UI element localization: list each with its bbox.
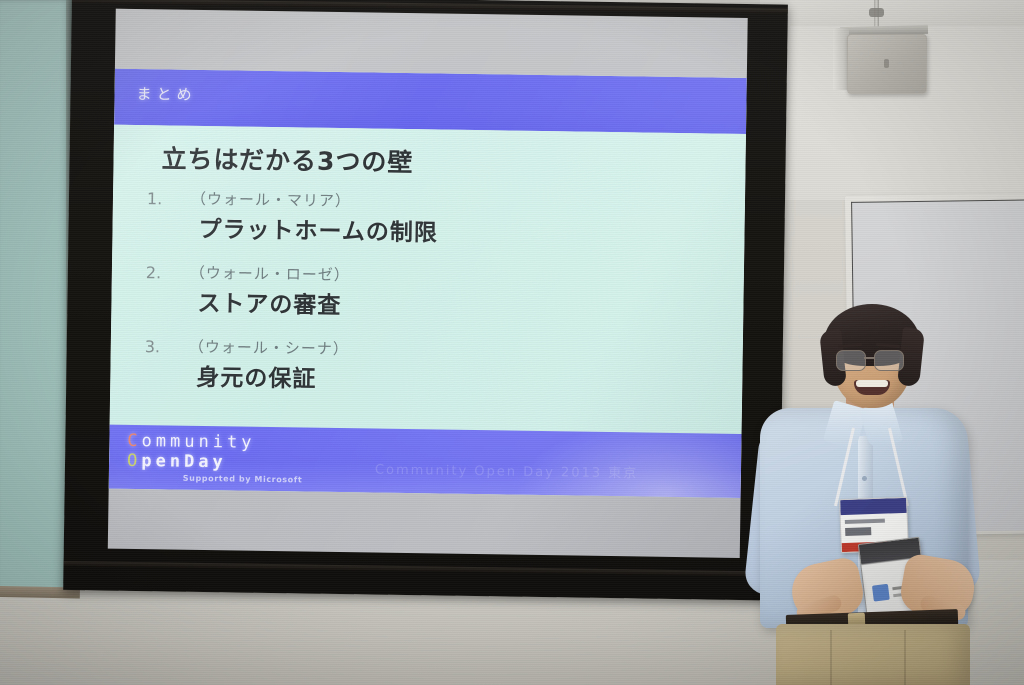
name-badge-header bbox=[840, 498, 906, 515]
bullet-3-number: 3. bbox=[145, 337, 161, 356]
presenter-teeth bbox=[856, 380, 888, 387]
presenter-trousers bbox=[776, 624, 970, 685]
bullet-1-subtitle: （ウォール・マリア） bbox=[191, 188, 351, 211]
logo-line-2: OpenDay bbox=[127, 451, 255, 473]
trouser-pleat bbox=[904, 630, 906, 685]
photo-scene: まとめ 立ちはだかる3つの壁 1. （ウォール・マリア） プラットホームの制限 … bbox=[0, 0, 1024, 685]
shirt-button bbox=[862, 476, 867, 481]
presenter bbox=[744, 300, 1004, 685]
eyeglasses-bridge bbox=[864, 357, 874, 359]
id-card-logo bbox=[872, 584, 890, 602]
ceiling-speaker bbox=[847, 34, 927, 94]
eyeglasses-right-lens bbox=[874, 350, 904, 371]
slide-eyebrow: まとめ bbox=[136, 83, 196, 105]
supported-by-text: Supported by Microsoft bbox=[183, 474, 303, 485]
room-ceiling bbox=[790, 0, 1024, 26]
bullet-2-number: 2. bbox=[146, 263, 162, 282]
slide-header-band: まとめ bbox=[114, 69, 747, 134]
community-openday-logo: Community OpenDay bbox=[127, 431, 256, 473]
bullet-1-number: 1. bbox=[147, 189, 163, 208]
presenter-mouth bbox=[854, 380, 890, 395]
footer-watermark: Community Open Day 2013 東京 bbox=[375, 459, 639, 482]
slide-footer-band: Community OpenDay Supported by Microsoft… bbox=[109, 425, 742, 498]
logo-line-1: Community bbox=[127, 431, 255, 453]
name-badge-line-1 bbox=[845, 519, 885, 524]
speaker-cone bbox=[884, 59, 889, 68]
bullet-3-subtitle: （ウォール・シーナ） bbox=[189, 336, 349, 359]
speaker-mount-knob bbox=[869, 8, 884, 17]
trouser-pleat bbox=[830, 630, 832, 685]
projected-slide: まとめ 立ちはだかる3つの壁 1. （ウォール・マリア） プラットホームの制限 … bbox=[109, 69, 747, 498]
bullet-2-subtitle: （ウォール・ローゼ） bbox=[190, 262, 350, 285]
slide-title: 立ちはだかる3つの壁 bbox=[161, 139, 413, 179]
teal-wall-panel bbox=[0, 0, 72, 592]
logo-line-2-initial: O bbox=[127, 451, 142, 471]
screen-surface: まとめ 立ちはだかる3つの壁 1. （ウォール・マリア） プラットホームの制限 … bbox=[108, 9, 748, 558]
bullet-3-text: 身元の保証 bbox=[196, 358, 316, 394]
eyeglasses-left-lens bbox=[836, 350, 866, 371]
logo-line-1-rest: ommunity bbox=[141, 431, 255, 453]
logo-line-1-initial: C bbox=[127, 431, 142, 451]
bullet-1-text: プラットホームの制限 bbox=[198, 210, 438, 248]
bullet-2-text: ストアの審査 bbox=[197, 284, 341, 320]
name-badge-line-2 bbox=[845, 527, 871, 536]
projection-screen: まとめ 立ちはだかる3つの壁 1. （ウォール・マリア） プラットホームの制限 … bbox=[63, 0, 788, 601]
slide-body: 立ちはだかる3つの壁 1. （ウォール・マリア） プラットホームの制限 2. （… bbox=[110, 125, 746, 434]
logo-line-2-rest: penDay bbox=[141, 451, 227, 472]
